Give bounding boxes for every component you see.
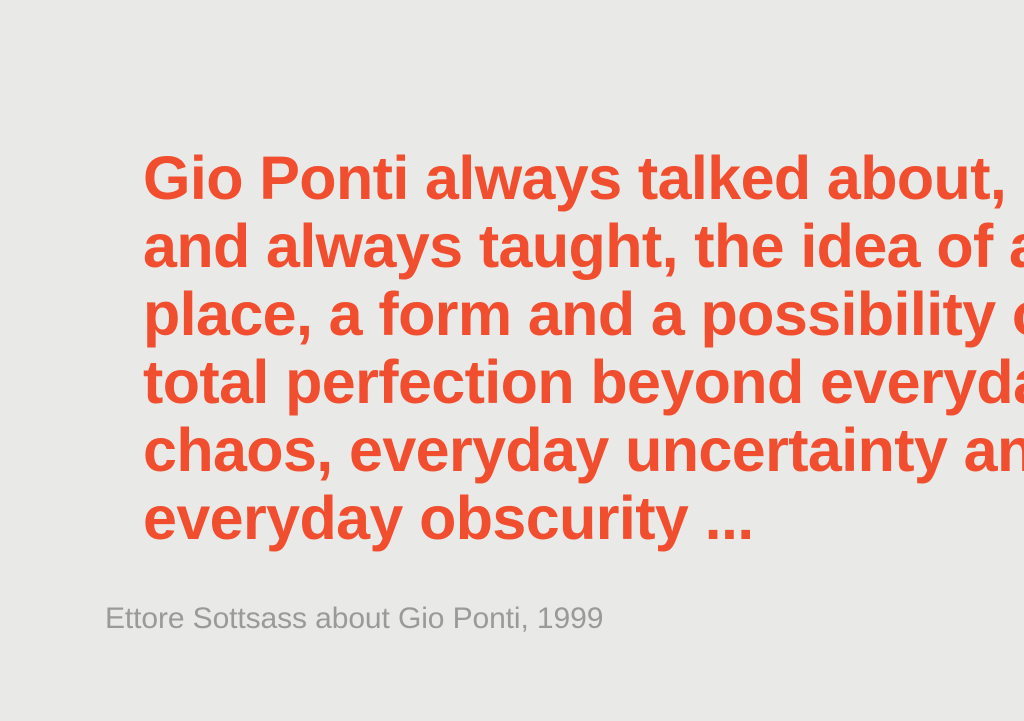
- quote-line-6: everyday obscurity ...: [143, 484, 1003, 552]
- quote-line-2: and always taught, the idea of a: [143, 212, 1003, 280]
- quote-line-5: chaos, everyday uncertainty and: [143, 416, 1003, 484]
- quote-line-3: place, a form and a possibility of: [143, 280, 1003, 348]
- quote-text: Gio Ponti always talked about, and alway…: [143, 144, 1003, 552]
- quote-attribution: Ettore Sottsass about Gio Ponti, 1999: [105, 600, 603, 638]
- quote-line-1: Gio Ponti always talked about,: [143, 144, 1003, 212]
- quote-slide: Gio Ponti always talked about, and alway…: [0, 0, 1024, 721]
- quote-line-4: total perfection beyond everyday: [143, 348, 1003, 416]
